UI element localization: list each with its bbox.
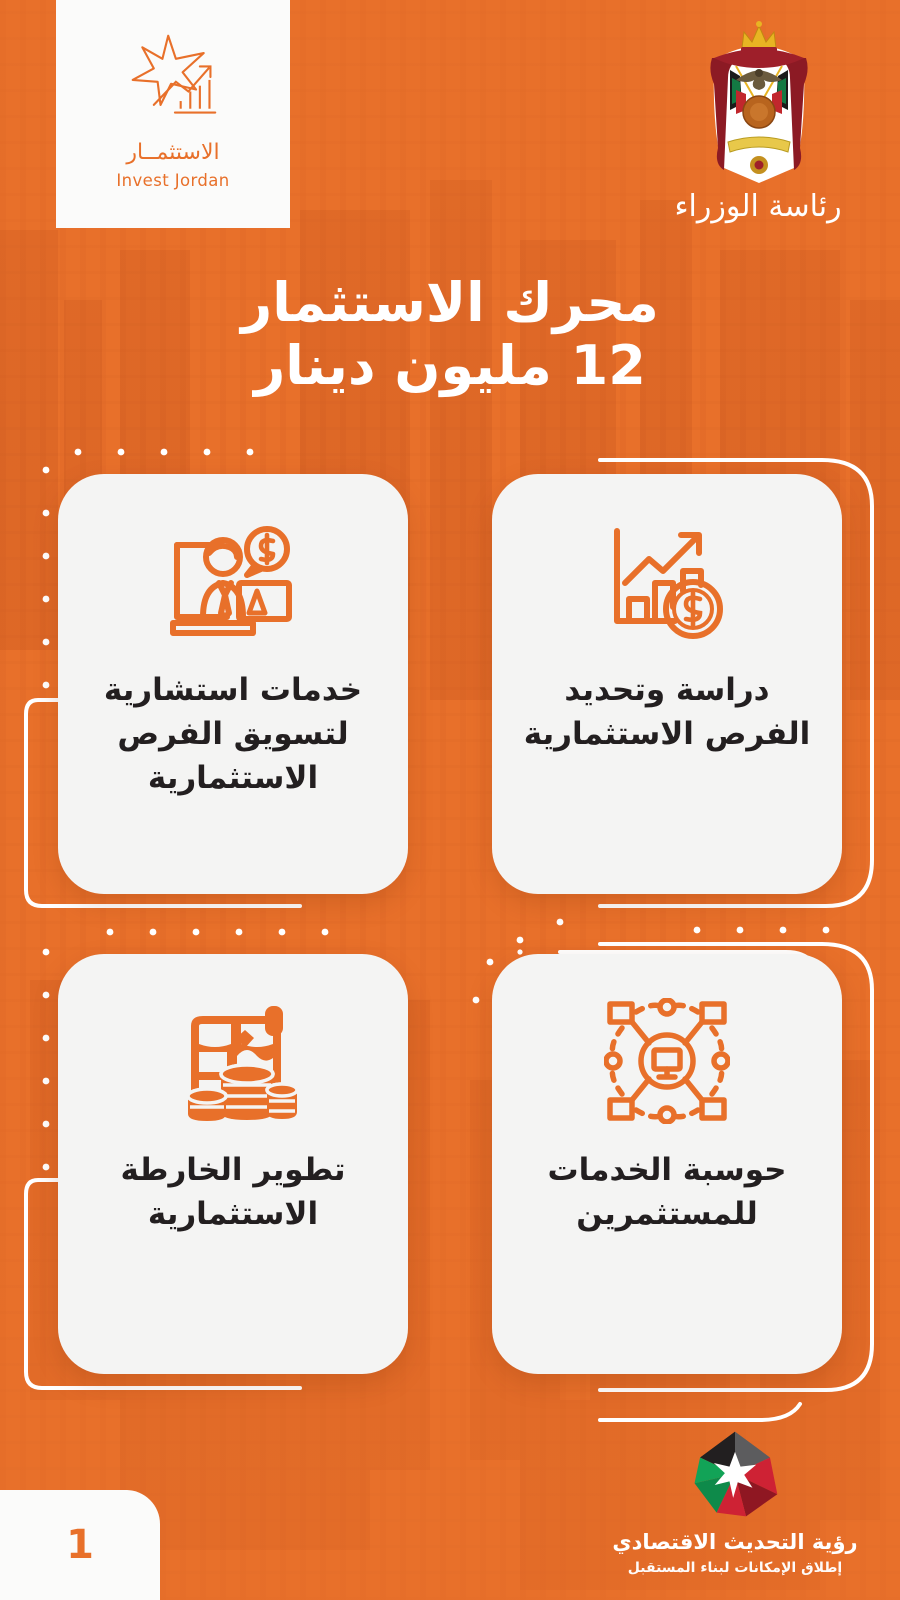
title-line-2: 12 مليون دينار: [80, 335, 820, 398]
infographic-page: الاستثمــار Invest Jordan رئاسة ال: [0, 0, 900, 1600]
vision-tagline: إطلاق الإمكانات لبناء المستقبل: [570, 1560, 900, 1576]
prime-ministry-caption-text: رئاسة الوزراء: [674, 189, 841, 224]
title-line-1: محرك الاستثمار: [241, 271, 659, 334]
map-coins-icon: [169, 996, 297, 1126]
economic-vision-block: رؤية التحديث الاقتصادي إطلاق الإمكانات ل…: [570, 1428, 900, 1576]
cards-grid: دراسة وتحديد الفرص الاستثمارية: [58, 474, 842, 1394]
page-number: 1: [66, 1525, 94, 1565]
page-number-badge: 1: [0, 1490, 160, 1600]
card-advisory-services[interactable]: خدمات استشارية لتسويق الفرص الاستثمارية: [58, 474, 408, 894]
vision-title: رؤية التحديث الاقتصادي: [570, 1530, 900, 1554]
card-study-opportunities[interactable]: دراسة وتحديد الفرص الاستثمارية: [492, 474, 842, 894]
page-title: محرك الاستثمار 12 مليون دينار: [80, 272, 820, 397]
consultant-desk-dollar-icon: [167, 516, 299, 646]
card-title: تطوير الخارطة الاستثمارية: [84, 1148, 382, 1236]
card-title: حوسبة الخدمات للمستثمرين: [518, 1148, 816, 1236]
card-title: دراسة وتحديد الفرص الاستثمارية: [518, 668, 816, 756]
invest-jordan-english-label: Invest Jordan: [116, 171, 229, 190]
bar-chart-growth-coin-icon: [603, 516, 731, 646]
jordan-coat-of-arms: [684, 18, 834, 188]
economic-modernisation-heptagon-logo: [689, 1428, 781, 1520]
card-title: خدمات استشارية لتسويق الفرص الاستثمارية: [84, 668, 382, 800]
invest-jordan-logo-card: الاستثمــار Invest Jordan: [56, 0, 290, 228]
card-investment-map[interactable]: تطوير الخارطة الاستثمارية: [58, 954, 408, 1374]
prime-ministry-caption: رئاسة الوزراء: [668, 178, 848, 230]
invest-jordan-arabic-label: الاستثمــار: [126, 142, 219, 164]
network-monitor-nodes-icon: [604, 996, 730, 1126]
star-chart-arrow-logo: [115, 30, 231, 126]
card-digitize-services[interactable]: حوسبة الخدمات للمستثمرين: [492, 954, 842, 1374]
